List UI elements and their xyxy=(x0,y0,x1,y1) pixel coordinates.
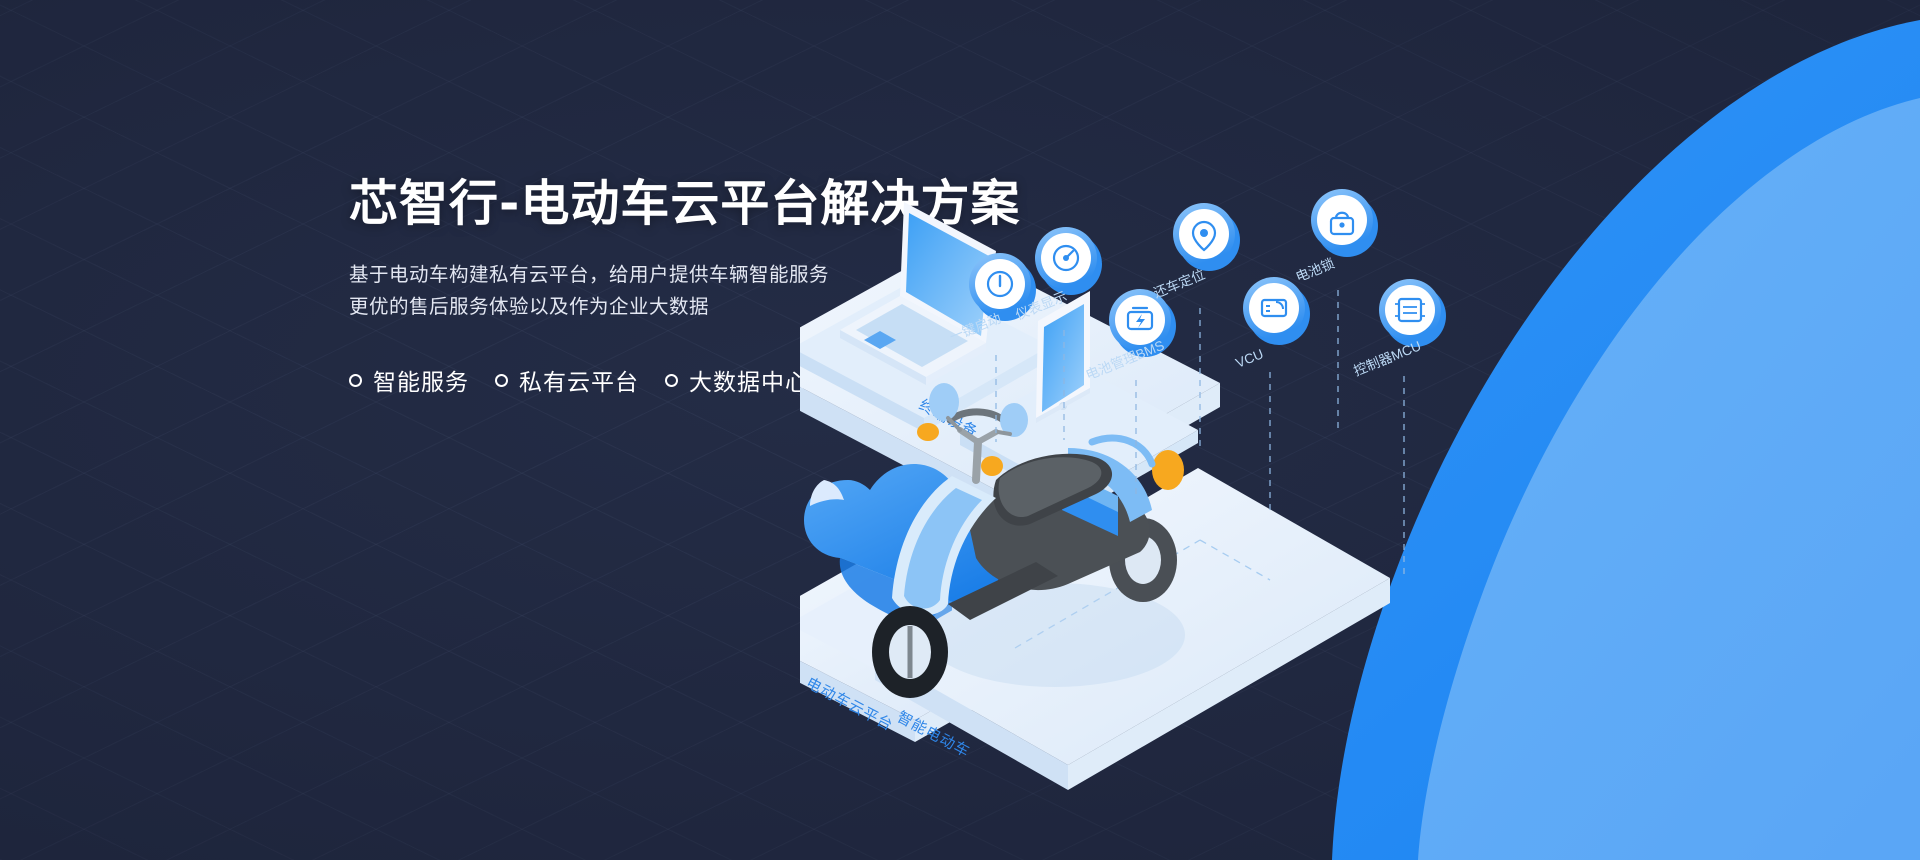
badge-label: 电池锁 xyxy=(1294,256,1337,285)
badge-label: 控制器MCU xyxy=(1352,338,1424,379)
badge-return-location[interactable]: 还车定位 xyxy=(1151,203,1240,301)
circle-outline-icon xyxy=(349,374,362,387)
feature-label: 智能服务 xyxy=(373,363,469,397)
hero-subline-line2: 更优的售后服务体验以及作为企业大数据 xyxy=(349,296,709,318)
circle-outline-icon xyxy=(495,374,508,387)
feature-label: 私有云平台 xyxy=(519,363,639,397)
hero-subline-line1: 基于电动车构建私有云平台，给用户提供车辆智能服务 xyxy=(349,264,829,286)
isometric-illustration: 终端设备 电动车云平台 xyxy=(800,180,1920,840)
circle-outline-icon xyxy=(665,374,678,387)
feature-item-big-data-center[interactable]: 大数据中心 xyxy=(665,363,809,397)
feature-item-private-cloud[interactable]: 私有云平台 xyxy=(495,363,639,397)
badge-battery-lock[interactable]: 电池锁 xyxy=(1294,189,1378,285)
badge-label: VCU xyxy=(1234,346,1266,371)
badge-vcu[interactable]: VCU xyxy=(1234,277,1310,371)
badge-controller-mcu[interactable]: 控制器MCU xyxy=(1352,279,1446,379)
badge-label: 还车定位 xyxy=(1151,266,1207,301)
feature-label: 大数据中心 xyxy=(689,363,809,397)
hero-banner: 芯智行-电动车云平台解决方案 基于电动车构建私有云平台，给用户提供车辆智能服务 … xyxy=(0,0,1920,860)
feature-item-smart-service[interactable]: 智能服务 xyxy=(349,363,469,397)
